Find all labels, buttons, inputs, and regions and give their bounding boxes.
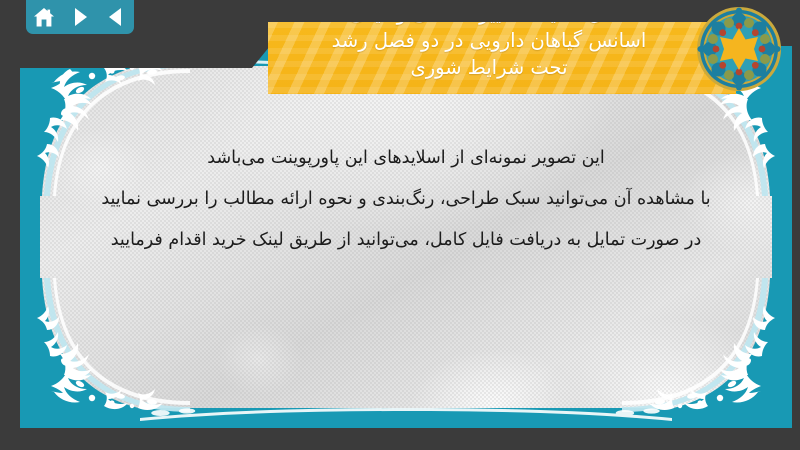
forward-triangle-icon [71,7,89,27]
title-line-3: تحت شرایط شوری [268,54,710,81]
body-line-1: این تصویر نمونه‌ای از اسلایدهای این پاور… [74,138,738,179]
islamic-medallion-ornament-icon [696,6,782,92]
slide-title: کامل مقایسه تغییرات کمی و کیفی اسانس گیا… [268,22,710,81]
slide-body-text: این تصویر نمونه‌ای از اسلایدهای این پاور… [74,138,738,261]
body-line-3: در صورت تمایل به دریافت فایل کامل، می‌تو… [74,220,738,261]
home-button[interactable] [29,3,59,31]
back-button[interactable] [101,3,131,31]
home-icon [33,7,55,28]
edge-flourish-bottom [140,406,672,426]
forward-button[interactable] [65,3,95,31]
navigation-toolbar[interactable] [26,0,134,34]
back-triangle-icon [107,7,125,27]
title-line-2: اسانس گیاهان دارویی در دو فصل رشد [268,27,710,54]
body-line-2: با مشاهده آن می‌توانید سبک طراحی، رنگ‌بن… [74,179,738,220]
slide-title-banner: کامل مقایسه تغییرات کمی و کیفی اسانس گیا… [268,22,736,94]
slide-viewer: این تصویر نمونه‌ای از اسلایدهای این پاور… [0,0,800,450]
presentation-slide: این تصویر نمونه‌ای از اسلایدهای این پاور… [20,46,792,428]
